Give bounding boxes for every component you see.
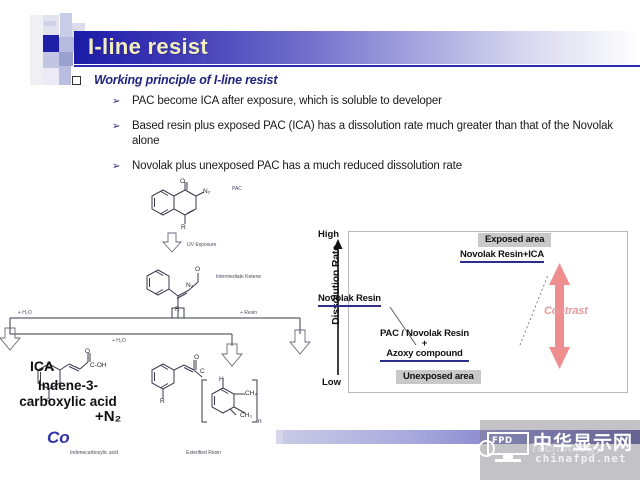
watermark-domain-text: chinafpd.net: [535, 452, 626, 465]
chemistry-structures-svg: [0, 170, 330, 470]
atom-label-c-right: C: [200, 368, 205, 375]
deco-square-low: [59, 66, 71, 85]
monitor-base-shape: [495, 459, 521, 462]
atom-label-r-right: R: [160, 398, 165, 405]
arrow-bullet-icon: ➢: [112, 120, 120, 133]
chart-y-tick-high: High: [318, 229, 339, 240]
caption-esterified-resin: Esterified Resin: [186, 450, 221, 456]
atom-label-o-right: O: [194, 354, 199, 361]
atom-label-h-right: H: [219, 376, 224, 383]
title-underline-rule: [74, 65, 640, 67]
chart-y-tick-low: Low: [322, 377, 341, 388]
atom-label-o-mid: O: [195, 266, 200, 273]
dissolution-rate-chart: Dissolution Rate High Low Exposed area U…: [312, 227, 630, 395]
square-bullet-icon: [72, 76, 81, 85]
atom-label-r-top: R: [181, 224, 186, 231]
chemistry-scheme: O N₂ R PAC UV Exposure O N₂ R Intermedia…: [0, 170, 330, 470]
deco-square-navy: [43, 35, 59, 52]
watermark-chinese-text: 中华显示网: [533, 428, 633, 455]
subheading-row: Working principle of I-line resist: [72, 73, 592, 91]
list-item: ➢ Based resin plus exposed PAC (ICA) has…: [112, 119, 622, 149]
atom-label-c-oh: C-OH: [90, 362, 107, 369]
chart-region-tag-exposed: Exposed area: [478, 233, 551, 247]
atom-label-plus-n2: +N₂: [95, 408, 121, 425]
chart-level-novolak-ica-text: Novolak Resin+ICA: [460, 249, 544, 263]
atom-label-n-subscript: n: [258, 418, 262, 425]
list-item-text: PAC become ICA after exposure, which is …: [132, 95, 442, 107]
page-title: I-line resist: [88, 34, 208, 60]
atom-label-o-left: O: [85, 348, 90, 355]
arrow-bullet-icon: ➢: [112, 95, 120, 108]
watermark-monitor-icon: FPD: [487, 432, 529, 462]
caption-uv-exposure: UV Exposure: [187, 242, 216, 248]
chart-region-tag-unexposed: Unexposed area: [396, 370, 481, 384]
caption-plus-water-2: + H₂O: [112, 338, 126, 344]
chart-contrast-annotation: Contrast: [544, 305, 588, 317]
chart-level-pac-azoxy: PAC / Novolak Resin + Azoxy compound: [380, 329, 469, 362]
list-item: ➢ PAC become ICA after exposure, which i…: [112, 94, 622, 109]
atom-label-ch3: CH₃: [240, 412, 252, 419]
deco-square-tick: [44, 21, 56, 26]
caption-indenecarboxylic-acid: Indenecarboxylic acid: [70, 450, 118, 456]
slide-canvas: I-line resist Working principle of I-lin…: [0, 0, 640, 480]
chart-level-novolak-ica: Novolak Resin+ICA: [460, 249, 544, 263]
caption-pac: PAC: [232, 186, 242, 192]
atom-label-n2-mid: N₂: [186, 282, 193, 289]
chart-level-pac-line2: Azoxy compound: [380, 349, 469, 362]
blue-italic-word: Co: [47, 428, 70, 448]
atom-label-r-mid: R: [175, 306, 180, 313]
chart-level-novolak-resin-text: Novolak Resin: [318, 293, 381, 307]
list-item-text: Based resin plus exposed PAC (ICA) has a…: [132, 120, 613, 147]
deco-square-pale-2: [43, 68, 59, 85]
caption-plus-water-1: + H₂O: [18, 310, 32, 316]
deco-square-light-column: [30, 15, 43, 85]
caption-plus-resin: + Resin: [240, 310, 257, 316]
caption-intermediate-ketene: Intermediate Ketene: [216, 274, 261, 280]
atom-label-ch2: CH₂: [245, 390, 257, 397]
ica-abbrev-label: ICA: [30, 358, 54, 374]
chart-level-novolak-resin: Novolak Resin: [318, 293, 381, 307]
deco-square-mid-3: [59, 52, 73, 66]
atom-label-n2-top: N₂: [203, 188, 210, 195]
subheading-text: Working principle of I-line resist: [94, 73, 277, 87]
ica-full-name-label: Indene-3-carboxylic acid: [12, 378, 124, 410]
chart-y-axis-label: Dissolution Rate: [330, 239, 342, 331]
atom-label-o-top: O: [180, 178, 185, 185]
deco-square-pale-1: [43, 15, 59, 37]
watermark-logo-text: FPD: [492, 436, 513, 446]
deco-square-tall-bar: [60, 13, 72, 37]
deco-square-mid-1: [43, 52, 59, 68]
